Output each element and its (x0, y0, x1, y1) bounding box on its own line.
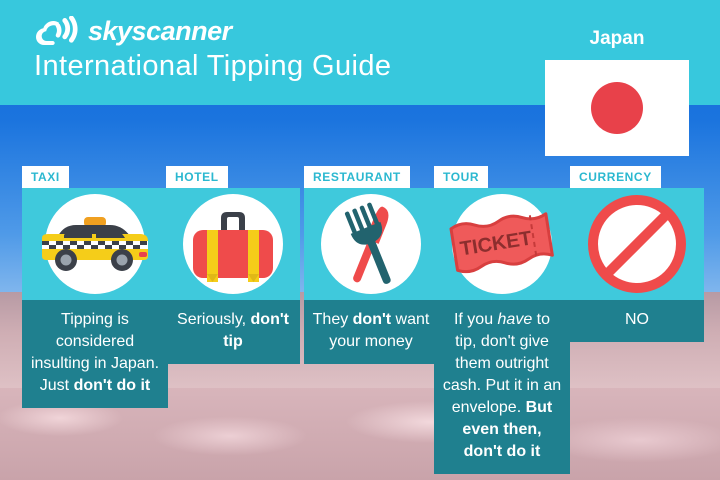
flag-red-disc (591, 82, 643, 134)
fork-and-knife-icon (328, 201, 414, 287)
no-entry-prohibition-icon (588, 195, 686, 293)
infographic-canvas: skyscanner International Tipping Guide J… (0, 0, 720, 480)
icon-disc (321, 194, 421, 294)
brand-logo-text: skyscanner (88, 16, 232, 46)
skyscanner-cloud-logo-icon (36, 16, 82, 46)
page-title: International Tipping Guide (34, 50, 391, 83)
card-tab-label: RESTAURANT (304, 166, 410, 188)
card-taxi[interactable]: TAXI (22, 166, 168, 408)
card-text: If you have to tip, don't give them outr… (434, 300, 570, 474)
card-icon-panel (166, 188, 300, 300)
suitcase-icon (191, 206, 275, 282)
icon-disc (183, 194, 283, 294)
card-text: Tipping is considered insulting in Japan… (22, 300, 168, 408)
card-tab-label: TOUR (434, 166, 488, 188)
card-text: NO (570, 300, 704, 342)
card-tab-label: CURRENCY (570, 166, 661, 188)
card-icon-panel (22, 188, 168, 300)
icon-disc: TICKET (452, 194, 552, 294)
card-icon-panel: TICKET (434, 188, 570, 300)
card-icon-panel (304, 188, 438, 300)
ticket-icon: TICKET (448, 211, 556, 277)
card-currency[interactable]: CURRENCY NO (570, 166, 704, 342)
japan-flag-icon (545, 60, 689, 156)
icon-disc (45, 194, 145, 294)
card-text: They don't want your money (304, 300, 438, 364)
taxi-icon (40, 216, 150, 272)
card-tab-label: HOTEL (166, 166, 228, 188)
country-block: Japan (545, 28, 689, 156)
card-tour[interactable]: TOUR TICKET If you have to tip, don't gi… (434, 166, 570, 474)
card-icon-panel (570, 188, 704, 300)
country-name: Japan (545, 28, 689, 50)
card-tab-label: TAXI (22, 166, 69, 188)
brand-logo[interactable]: skyscanner (36, 16, 232, 46)
card-restaurant[interactable]: RESTAURANT (304, 166, 438, 364)
card-hotel[interactable]: HOTEL Seriously, don't tip (166, 166, 300, 364)
card-text: Seriously, don't tip (166, 300, 300, 364)
